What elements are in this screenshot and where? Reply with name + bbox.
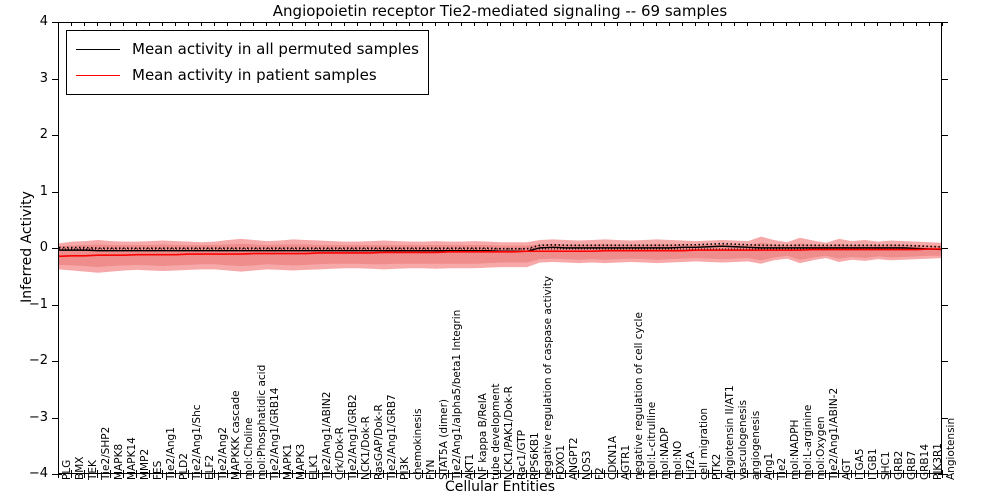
x-tick-label: mol:Choline xyxy=(244,418,254,480)
x-tick-label: chemokinesis xyxy=(413,408,423,480)
x-tick-label: Tie2 xyxy=(777,458,787,480)
x-tick-label: MAPK3 xyxy=(296,444,306,480)
x-tick-label: MMP2 xyxy=(140,449,150,480)
figure: Angiopoietin receptor Tie2-mediated sign… xyxy=(0,0,1000,500)
x-tick-label: RPS6KB1 xyxy=(530,432,540,480)
x-tick-label: Tie2/Ang1/alpha5/beta1 Integrin xyxy=(452,310,462,480)
x-tick-label: MAPKKK cascade xyxy=(231,390,241,480)
legend-line-swatch xyxy=(76,49,120,50)
x-tick-label: mol:Phosphatidic acid xyxy=(257,365,267,480)
x-tick-label: Hif2A xyxy=(686,452,696,480)
x-tick-label: Crk/Dok-R xyxy=(335,427,345,480)
x-tick-label: PIK3R1 xyxy=(933,443,943,480)
x-tick-label: MAPK14 xyxy=(127,437,137,480)
x-tick-label: FOXO1 xyxy=(556,445,566,480)
x-tick-label: Angiotensin xyxy=(946,418,956,480)
x-tick-label: Ang1 xyxy=(764,453,774,480)
x-tick-label: MAPK8 xyxy=(114,444,124,480)
x-tick-label: mol:NADPH xyxy=(790,420,800,480)
x-tick-label: GRB14 xyxy=(920,444,930,480)
x-tick-label: Tie2/Ang1/ABIN-2 xyxy=(829,388,839,480)
x-tick-label: ELK1 xyxy=(309,454,319,480)
legend-entry: Mean activity in all permuted samples xyxy=(76,36,419,62)
x-tick-label: Rac1/GTP xyxy=(517,430,527,480)
x-tick-label: negative regulation of cell cycle xyxy=(634,312,644,480)
x-tick-label: CDKN1A xyxy=(608,436,618,480)
x-tick-label: ANGPT2 xyxy=(569,437,579,480)
x-tick-label: NCK1/Dok-R xyxy=(361,416,371,480)
x-tick-label: PLG xyxy=(62,460,72,480)
x-tick-label: MAPK1 xyxy=(283,444,293,480)
x-tick-label: Tie2/Ang2 xyxy=(218,427,228,480)
x-tick-label: PTK2 xyxy=(712,454,722,480)
x-tick-label: NCK1/PAK1/Dok-R xyxy=(504,386,514,480)
x-tick-label: GRB2 xyxy=(894,451,904,480)
x-tick-label: AKT1 xyxy=(465,454,475,480)
x-tick-label: mol:NO xyxy=(673,441,683,480)
x-tick-label: ITGA5 xyxy=(855,448,865,480)
x-tick-label: PI3K xyxy=(400,457,410,480)
x-tick-label: NOS3 xyxy=(582,451,592,480)
x-tick-label: FES xyxy=(153,461,163,480)
x-tick-label: F2 xyxy=(595,467,605,480)
x-tick-label: AGT xyxy=(842,459,852,480)
x-tick-label: RasGAP/Dok-R xyxy=(374,404,384,480)
legend: Mean activity in all permuted samples Me… xyxy=(66,30,429,95)
x-tick-label: mol:L-citrulline xyxy=(647,402,657,480)
x-tick-label: ITGB1 xyxy=(868,448,878,480)
x-tick-label: mol:NADP xyxy=(660,427,670,480)
x-tick-label: mol:L-arginine xyxy=(803,405,813,480)
x-tick-label: Tie2/Ang1/Shc xyxy=(192,405,202,481)
legend-label: Mean activity in all permuted samples xyxy=(132,40,419,58)
x-tick-label: ELF2 xyxy=(205,455,215,480)
x-tick-label: BMX xyxy=(75,457,85,480)
x-tick-label: AGTR1 xyxy=(621,445,631,480)
legend-line-swatch xyxy=(76,75,120,76)
x-tick-label: tube development xyxy=(491,384,501,481)
x-tick-label: Tie2/Ang1/GRB14 xyxy=(270,388,280,480)
x-tick-label: vasculogenesis xyxy=(738,400,748,480)
x-tick-label: Tie2/SHP2 xyxy=(101,427,111,480)
x-tick-label: NF kappa B/RelA xyxy=(478,393,488,480)
x-tick-label: TEK xyxy=(88,460,98,480)
x-tick-label: negative regulation of caspase activity xyxy=(543,276,553,480)
x-tick-label: Tie2/Ang1 xyxy=(166,427,176,480)
x-tick-label: GRB7 xyxy=(907,451,917,480)
x-tick-label: cell migration xyxy=(699,408,709,480)
x-tick-label: angiogenesis xyxy=(751,411,761,480)
x-tick-label: SHC1 xyxy=(881,451,891,480)
x-tick-label: Tie2/Ang1/GRB2 xyxy=(348,394,358,480)
x-tick-label: Angiotensin II/AT1 xyxy=(725,385,735,480)
legend-label: Mean activity in patient samples xyxy=(132,66,377,84)
x-tick-label: Tie2/Ang1/ABIN2 xyxy=(322,392,332,480)
x-tick-label: STAT5A (dimer) xyxy=(439,399,449,480)
x-tick-label: PLD2 xyxy=(179,453,189,480)
legend-entry: Mean activity in patient samples xyxy=(76,62,419,88)
x-tick-label: mol:Oxygen xyxy=(816,416,826,480)
x-tick-label: FYN xyxy=(426,460,436,480)
x-tick-label: Tie2/Ang1/GRB7 xyxy=(387,394,397,480)
